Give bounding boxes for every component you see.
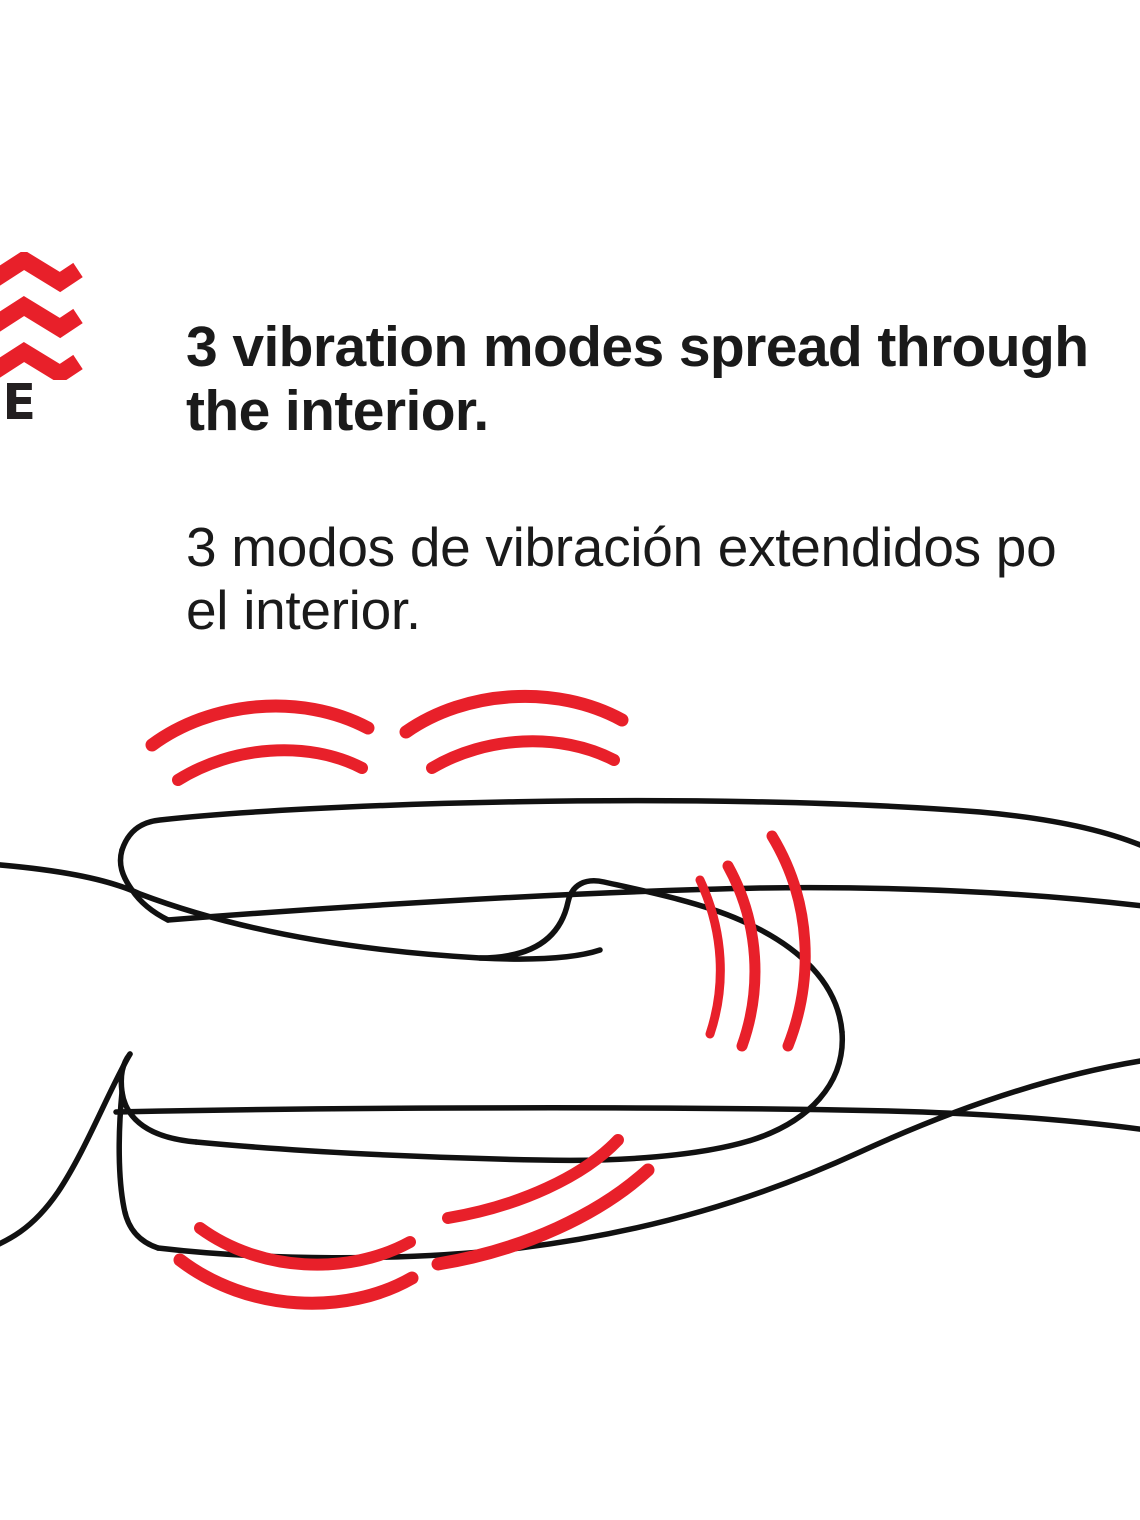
- product-outline: [0, 801, 1140, 1258]
- bottom-left-vibration-waves: [180, 1228, 412, 1303]
- vibrating-ring-diagram: [0, 640, 1140, 1380]
- headline-line-2: the interior.: [186, 380, 1140, 444]
- brand-wordmark: ATE ES: [0, 378, 138, 488]
- brand-wordmark-line-1: ATE: [0, 378, 138, 427]
- feature-panel: ATE ES 3 vibration modes spread throught…: [0, 0, 1140, 1520]
- subheadline-line-2: el interior.: [186, 579, 1140, 642]
- triple-wave-icon: [0, 252, 138, 380]
- brand-logo: ATE ES: [0, 252, 138, 488]
- headline-line-1: 3 vibration modes spread through: [186, 315, 1088, 379]
- subheadline: 3 modos de vibración extendidos poel int…: [186, 444, 1140, 643]
- copy-block: 3 vibration modes spread throughthe inte…: [186, 316, 1140, 642]
- brand-wordmark-line-2: ES: [0, 433, 138, 482]
- headline: 3 vibration modes spread throughthe inte…: [186, 316, 1140, 444]
- right-tip-vibration-waves: [700, 836, 805, 1046]
- subheadline-line-1: 3 modos de vibración extendidos po: [186, 516, 1056, 578]
- top-right-vibration-waves: [406, 696, 622, 768]
- top-left-vibration-waves: [152, 706, 368, 780]
- vibration-waves: [152, 696, 805, 1303]
